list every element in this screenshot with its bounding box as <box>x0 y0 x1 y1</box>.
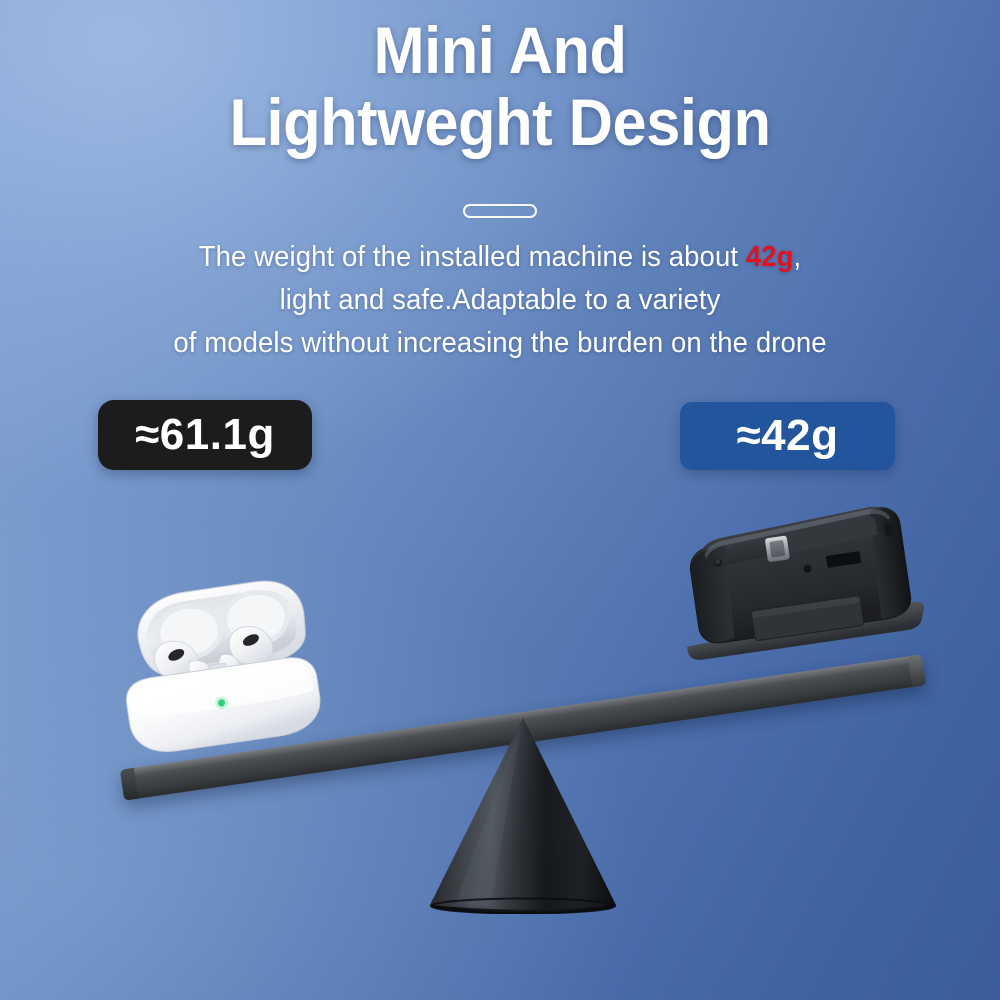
pill-divider-icon <box>463 204 537 218</box>
product-infographic: Mini And Lightweght Design The weight of… <box>0 0 1000 1000</box>
description-line-2: light and safe.Adaptable to a variety <box>18 279 983 322</box>
page-title-line-2: Lightweght Design <box>35 86 965 158</box>
fulcrum-cone <box>430 716 616 914</box>
weight-badge-left-label: ≈61.1g <box>135 410 275 460</box>
description-line-1-suffix: , <box>794 241 802 273</box>
description-text: The weight of the installed machine is a… <box>18 236 983 365</box>
weight-badge-right-label: ≈42g <box>737 411 839 461</box>
airpods-pro-case <box>101 564 335 764</box>
weight-badge-left: ≈61.1g <box>98 400 312 470</box>
description-line-3: of models without increasing the burden … <box>18 322 983 365</box>
page-title: Mini And Lightweght Design <box>35 14 965 158</box>
weight-badge-right: ≈42g <box>680 402 895 470</box>
description-line-1: The weight of the installed machine is a… <box>18 236 983 279</box>
description-line-1-prefix: The weight of the installed machine is a… <box>199 241 746 273</box>
page-title-line-1: Mini And <box>35 14 965 86</box>
weight-highlight: 42g <box>746 241 794 273</box>
seesaw-plank-right-end <box>908 654 926 687</box>
